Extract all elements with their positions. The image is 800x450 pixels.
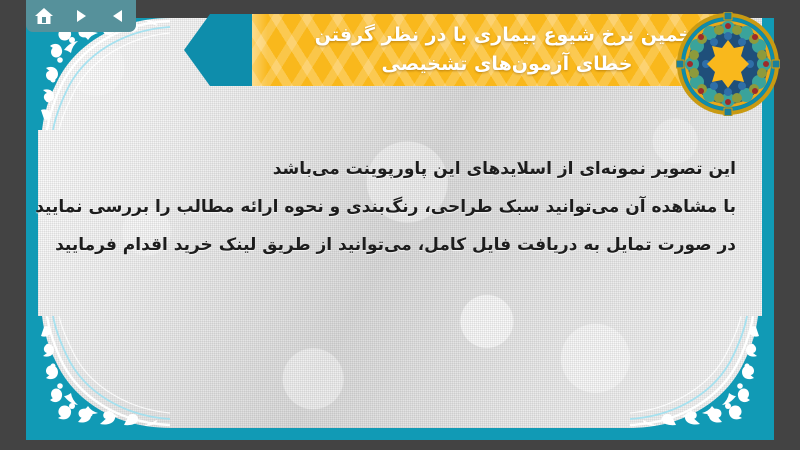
slide-title-banner: تخمین نرخ شیوع بیماری با در نظر گرفتن خط… bbox=[252, 14, 730, 86]
triangle-left-icon bbox=[110, 8, 126, 24]
home-icon bbox=[34, 7, 54, 25]
home-button[interactable] bbox=[30, 3, 58, 29]
title-line-1: تخمین نرخ شیوع بیماری با در نظر گرفتن bbox=[315, 21, 699, 50]
slide-body-text: این تصویر نمونه‌ای از اسلایدهای این پاور… bbox=[86, 150, 736, 264]
page-title: تخمین نرخ شیوع بیماری با در نظر گرفتن خط… bbox=[257, 21, 725, 80]
title-line-2: خطای آزمون‌های تشخیصی bbox=[315, 50, 699, 79]
body-line-1: این تصویر نمونه‌ای از اسلایدهای این پاور… bbox=[86, 150, 736, 188]
triangle-right-icon bbox=[73, 8, 89, 24]
slide-viewer: این تصویر نمونه‌ای از اسلایدهای این پاور… bbox=[0, 0, 800, 450]
previous-slide-button[interactable] bbox=[104, 3, 132, 29]
navigation-bar bbox=[26, 0, 136, 32]
body-line-3: در صورت تمایل به دریافت فایل کامل، می‌تو… bbox=[86, 226, 736, 264]
medallion-ornament-icon bbox=[676, 12, 780, 116]
next-slide-button[interactable] bbox=[67, 3, 95, 29]
body-line-2: با مشاهده آن می‌توانید سبک طراحی، رنگ‌بن… bbox=[86, 188, 736, 226]
